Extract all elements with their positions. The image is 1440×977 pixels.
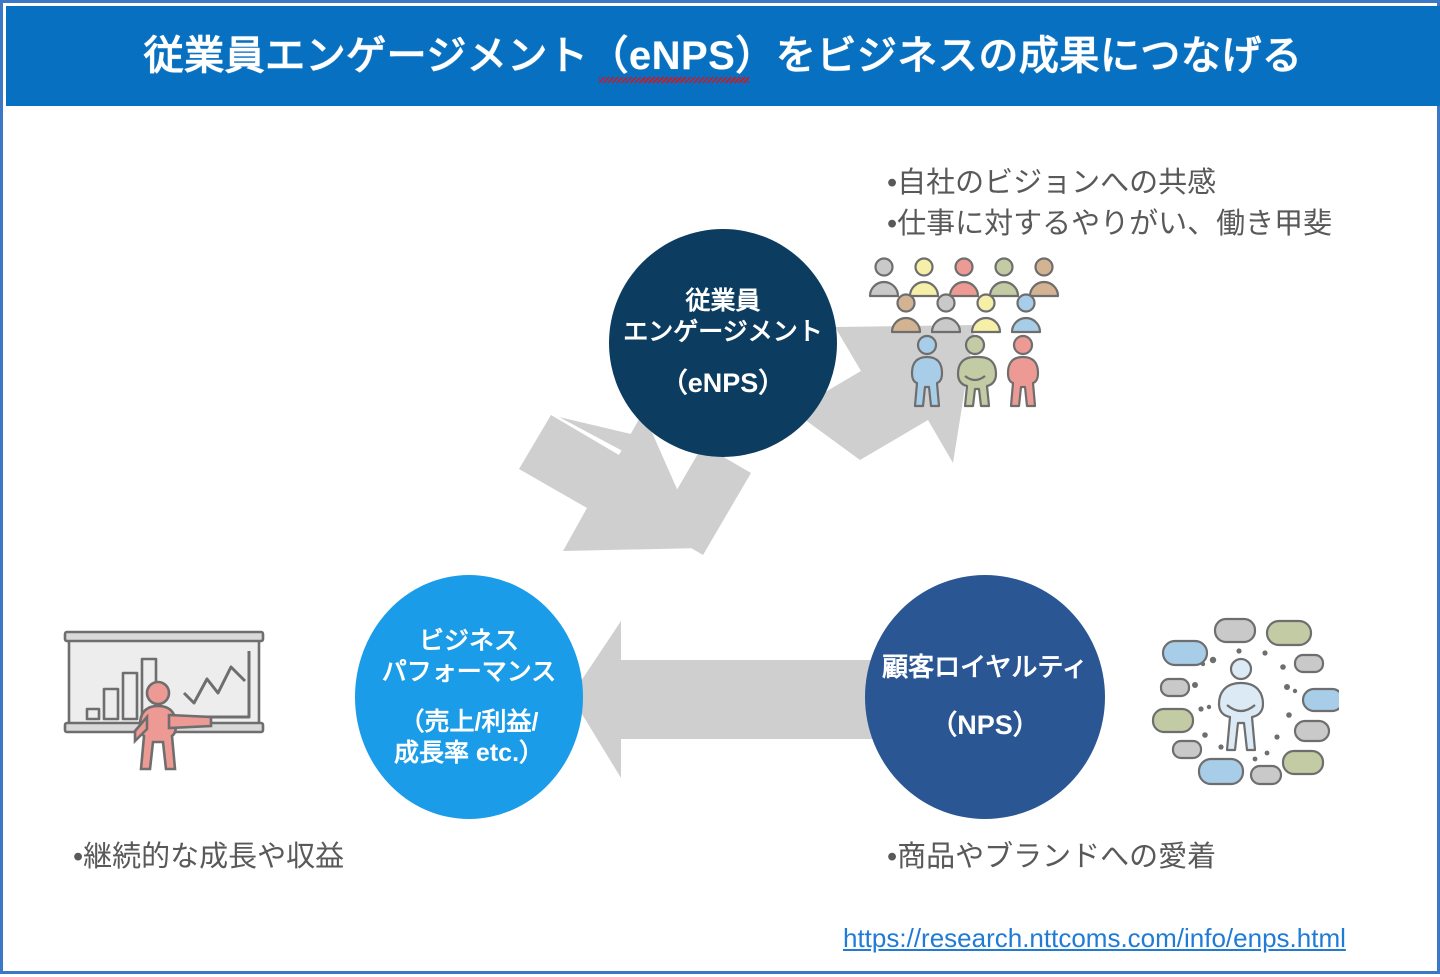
person-bust [950,259,978,297]
person-bust [870,259,898,297]
annotation-bottom-right: •商品やブランドへの愛着 [887,837,1216,878]
speech-bubble [1161,679,1189,696]
circle-enps-line2: エンゲージメント [623,317,823,348]
annotation-top-right-line-2: •仕事に対するやりがい、働き甲斐 [887,204,1332,245]
person-full [912,336,942,406]
circle-business-performance[interactable]: ビジネス パフォーマンス （売上/利益/ 成長率 etc.） [355,575,583,819]
circle-enps-line1: 従業員 [685,286,760,317]
person-bust [1012,295,1040,333]
person-bust [990,259,1018,297]
person-full [1008,336,1038,406]
circle-bp-line1: ビジネス [419,626,519,657]
presentation-board-icon [55,621,287,773]
annotation-bottom-left: •継続的な成長や収益 [73,837,344,878]
speech-bubble [1199,759,1243,784]
person-bust [932,295,960,333]
header-bar: 従業員エンゲージメント（eNPS）をビジネスの成果につなげる [6,6,1440,106]
person-bust [910,259,938,297]
person-bust [972,295,1000,333]
speech-bubble [1163,641,1207,665]
person-full [958,336,996,406]
speech-bubble [1283,751,1323,774]
speech-bubble [1173,741,1201,758]
slide-canvas: 従業員エンゲージメント（eNPS）をビジネスの成果につなげる 従業員 エンゲージ… [0,0,1440,974]
speech-bubble [1267,621,1311,645]
annotation-top-right: •自社のビジョンへの共感 •仕事に対するやりがい、働き甲斐 [887,163,1332,245]
spellcheck-underline-icon [599,77,749,83]
circle-enps-sub: （eNPS） [661,367,786,400]
cycle-arrows [3,3,1440,977]
arrow-nps-to-bp [571,621,909,778]
speech-bubble [1251,766,1281,784]
circle-employee-engagement[interactable]: 従業員 エンゲージメント （eNPS） [609,229,837,457]
annotation-top-right-line-1: •自社のビジョンへの共感 [887,163,1332,204]
page-title: 従業員エンゲージメント（eNPS）をビジネスの成果につなげる [144,36,1303,76]
speech-bubble [1215,619,1255,642]
speech-bubble [1303,689,1339,711]
speech-bubble [1295,721,1329,741]
person-bust [1030,259,1058,297]
circle-bp-sub-line2: 成長率 etc.） [394,738,544,769]
customer-feedback-icon [1143,611,1339,797]
people-group-icon [865,253,1085,413]
circle-customer-loyalty[interactable]: 顧客ロイヤルティ （NPS） [865,575,1105,819]
person-bust [892,295,920,333]
center-person-icon [1219,659,1263,750]
source-url-link[interactable]: https://research.nttcoms.com/info/enps.h… [843,923,1346,954]
speech-bubble [1295,655,1323,672]
circle-nps-line1: 顧客ロイヤルティ [882,652,1088,684]
circle-bp-line2: パフォーマンス [382,657,557,688]
circle-bp-sub-line1: （売上/利益/ [400,707,539,738]
speech-bubble [1153,709,1193,732]
circle-nps-sub: （NPS） [930,709,1040,742]
